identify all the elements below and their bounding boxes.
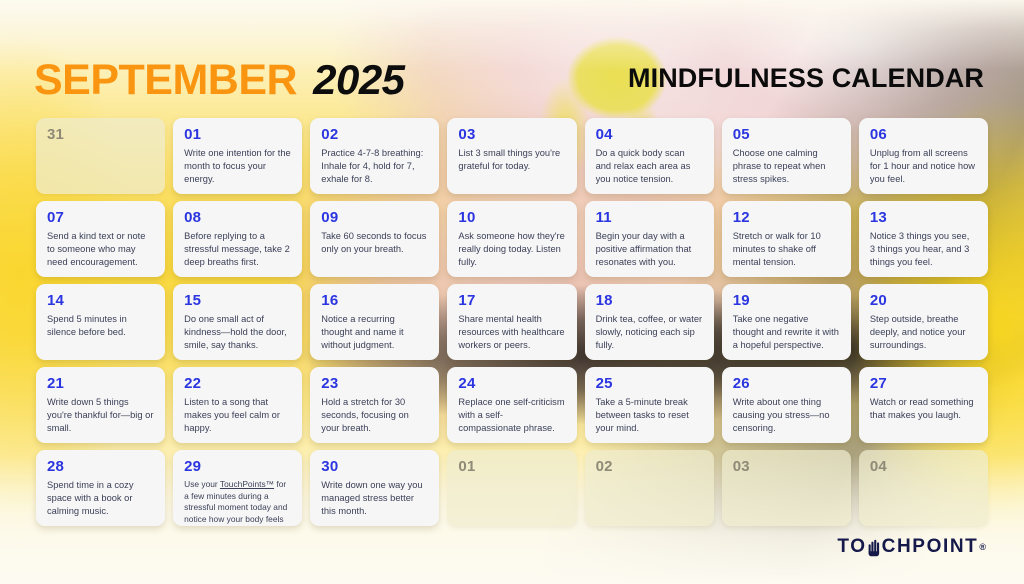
calendar-day-cell[interactable]: 17Share mental health resources with hea… [447,284,576,360]
day-number: 26 [733,376,840,391]
calendar-day-cell[interactable]: 11Begin your day with a positive affirma… [585,201,714,277]
day-number: 12 [733,210,840,225]
calendar-day-cell[interactable]: 01 [447,450,576,526]
day-number: 23 [321,376,428,391]
logo-text-before: TO [837,536,866,558]
day-number: 14 [47,293,154,308]
day-number: 24 [458,376,565,391]
day-activity-text: Send a kind text or note to someone who … [47,230,154,270]
day-number: 04 [870,459,977,474]
day-activity-text: Use your TouchPoints™ for a few minutes … [184,479,291,526]
calendar-day-cell[interactable]: 06Unplug from all screens for 1 hour and… [859,118,988,194]
calendar-day-cell[interactable]: 20Step outside, breathe deeply, and noti… [859,284,988,360]
day-activity-text: Spend 5 minutes in silence before bed. [47,313,154,339]
day-number: 19 [733,293,840,308]
calendar-day-cell[interactable]: 30Write down one way you managed stress … [310,450,439,526]
day-number: 27 [870,376,977,391]
day-activity-text: List 3 small things you're grateful for … [458,147,565,173]
day-number: 09 [321,210,428,225]
calendar-day-cell[interactable]: 12Stretch or walk for 10 minutes to shak… [722,201,851,277]
calendar-day-cell[interactable]: 03 [722,450,851,526]
day-number: 28 [47,459,154,474]
calendar-day-cell[interactable]: 19Take one negative thought and rewrite … [722,284,851,360]
day-activity-text: Before replying to a stressful message, … [184,230,291,270]
calendar-day-cell[interactable]: 08Before replying to a stressful message… [173,201,302,277]
day-activity-text: Unplug from all screens for 1 hour and n… [870,147,977,187]
calendar-day-cell[interactable]: 18Drink tea, coffee, or water slowly, no… [585,284,714,360]
poster-header: SEPTEMBER 2025 MINDFULNESS CALENDAR [0,56,1024,112]
day-activity-text: Choose one calming phrase to repeat when… [733,147,840,187]
calendar-day-cell[interactable]: 28Spend time in a cozy space with a book… [36,450,165,526]
day-activity-text: Listen to a song that makes you feel cal… [184,396,291,436]
calendar-day-cell[interactable]: 23Hold a stretch for 30 seconds, focusin… [310,367,439,443]
calendar-day-cell[interactable]: 27Watch or read something that makes you… [859,367,988,443]
day-activity-text: Hold a stretch for 30 seconds, focusing … [321,396,428,436]
brand-mention: TouchPoints™ [220,479,274,489]
mindfulness-calendar-poster: SEPTEMBER 2025 MINDFULNESS CALENDAR 3101… [0,0,1024,584]
year-label: 2025 [313,56,404,104]
calendar-day-cell[interactable]: 03List 3 small things you're grateful fo… [447,118,576,194]
calendar-day-cell[interactable]: 22Listen to a song that makes you feel c… [173,367,302,443]
logo-text-after: CHPOINT [882,536,979,558]
day-number: 04 [596,127,703,142]
day-number: 11 [596,210,703,225]
calendar-day-cell[interactable]: 25Take a 5-minute break between tasks to… [585,367,714,443]
day-number: 15 [184,293,291,308]
day-activity-text: Take one negative thought and rewrite it… [733,313,840,353]
calendar-day-cell[interactable]: 13Notice 3 things you see, 3 things you … [859,201,988,277]
day-number: 20 [870,293,977,308]
calendar-day-cell[interactable]: 26Write about one thing causing you stre… [722,367,851,443]
day-number: 31 [47,127,154,142]
day-activity-text: Share mental health resources with healt… [458,313,565,353]
month-year-title: SEPTEMBER 2025 [34,56,405,105]
day-activity-text: Write one intention for the month to foc… [184,147,291,187]
calendar-day-cell[interactable]: 31 [36,118,165,194]
calendar-day-cell[interactable]: 01Write one intention for the month to f… [173,118,302,194]
day-activity-text: Ask someone how they're really doing tod… [458,230,565,270]
day-number: 30 [321,459,428,474]
day-number: 16 [321,293,428,308]
calendar-day-cell[interactable]: 10Ask someone how they're really doing t… [447,201,576,277]
calendar-day-cell[interactable]: 04Do a quick body scan and relax each ar… [585,118,714,194]
calendar-day-cell[interactable]: 02 [585,450,714,526]
day-number: 22 [184,376,291,391]
month-label: SEPTEMBER [34,56,297,105]
day-number: 06 [870,127,977,142]
calendar-day-cell[interactable]: 21Write down 5 things you're thankful fo… [36,367,165,443]
day-number: 21 [47,376,154,391]
calendar-title: MINDFULNESS CALENDAR [628,63,984,94]
calendar-day-cell[interactable]: 14Spend 5 minutes in silence before bed. [36,284,165,360]
day-number: 03 [733,459,840,474]
day-number: 18 [596,293,703,308]
day-number: 02 [596,459,703,474]
day-activity-text: Notice a recurring thought and name it w… [321,313,428,353]
day-activity-text: Do a quick body scan and relax each area… [596,147,703,187]
calendar-day-cell[interactable]: 05Choose one calming phrase to repeat wh… [722,118,851,194]
day-activity-text: Begin your day with a positive affirmati… [596,230,703,270]
day-number: 03 [458,127,565,142]
calendar-day-cell[interactable]: 07Send a kind text or note to someone wh… [36,201,165,277]
calendar-day-cell[interactable]: 09Take 60 seconds to focus only on your … [310,201,439,277]
day-activity-text: Take a 5-minute break between tasks to r… [596,396,703,436]
day-number: 25 [596,376,703,391]
day-activity-text: Write down 5 things you're thankful for—… [47,396,154,436]
calendar-day-cell[interactable]: 02Practice 4-7-8 breathing: Inhale for 4… [310,118,439,194]
calendar-day-cell[interactable]: 16Notice a recurring thought and name it… [310,284,439,360]
day-activity-text: Do one small act of kindness—hold the do… [184,313,291,353]
day-number: 13 [870,210,977,225]
day-activity-text: Watch or read something that makes you l… [870,396,977,422]
day-activity-text: Spend time in a cozy space with a book o… [47,479,154,519]
registered-mark: ® [979,542,986,552]
calendar-day-cell[interactable]: 29Use your TouchPoints™ for a few minute… [173,450,302,526]
day-activity-text: Take 60 seconds to focus only on your br… [321,230,428,256]
day-number: 08 [184,210,291,225]
day-number: 01 [458,459,565,474]
touchpoint-logo: TO CHPOINT ® [837,536,986,558]
day-activity-text: Replace one self-criticism with a self-c… [458,396,565,436]
calendar-grid: 3101Write one intention for the month to… [36,118,988,526]
calendar-day-cell[interactable]: 04 [859,450,988,526]
day-activity-text: Stretch or walk for 10 minutes to shake … [733,230,840,270]
day-number: 07 [47,210,154,225]
day-number: 02 [321,127,428,142]
calendar-day-cell[interactable]: 15Do one small act of kindness—hold the … [173,284,302,360]
day-activity-text: Notice 3 things you see, 3 things you he… [870,230,977,270]
day-number: 29 [184,459,291,474]
day-number: 01 [184,127,291,142]
day-activity-text: Write down one way you managed stress be… [321,479,428,519]
day-number: 05 [733,127,840,142]
day-activity-text: Write about one thing causing you stress… [733,396,840,436]
day-number: 10 [458,210,565,225]
day-number: 17 [458,293,565,308]
day-activity-text: Practice 4-7-8 breathing: Inhale for 4, … [321,147,428,187]
hand-icon [868,539,881,557]
day-activity-text: Drink tea, coffee, or water slowly, noti… [596,313,703,353]
day-activity-text: Step outside, breathe deeply, and notice… [870,313,977,353]
calendar-day-cell[interactable]: 24Replace one self-criticism with a self… [447,367,576,443]
